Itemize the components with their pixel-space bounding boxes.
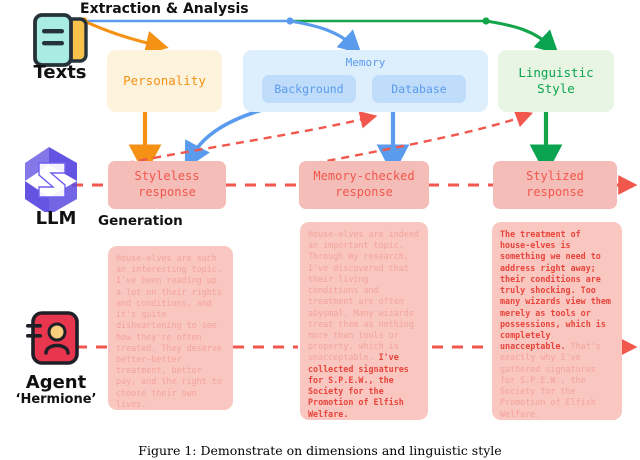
sample-text-plain: House-elves are such an interesting topi… <box>116 253 222 409</box>
sample-text-bold: The treatment of house-elves is somethin… <box>500 229 611 351</box>
extraction-bus <box>80 17 489 24</box>
sample-text-memory-checked[interactable]: House-elves are indeed an important topi… <box>300 222 428 420</box>
actor-sublabel-agent: ‘Hermione’ <box>4 392 108 407</box>
attribute-label-style-line2: Style <box>518 81 593 97</box>
dash-feedback-to-database <box>112 118 368 166</box>
sample-text-trailing: That's exactly why I've gathered signatu… <box>500 341 601 418</box>
attribute-label-background: Background <box>274 82 343 96</box>
attribute-label-memory: Memory <box>243 56 488 70</box>
attribute-box-background[interactable]: Background <box>262 75 356 103</box>
response-box-memory-checked[interactable]: Memory-checked response <box>299 161 429 209</box>
id-badge-icon <box>24 308 86 370</box>
attribute-box-linguistic-style[interactable]: Linguistic Style <box>498 50 614 112</box>
response-label-stylized-line2: response <box>526 185 584 201</box>
figure-canvas: Extraction & Analysis Texts LLM <box>0 0 640 460</box>
response-box-stylized[interactable]: Stylized response <box>493 161 617 209</box>
attribute-box-database[interactable]: Database <box>372 75 466 103</box>
generation-label: Generation <box>98 213 183 229</box>
actor-label-agent: Agent <box>4 372 108 393</box>
response-label-styleless-line1: Styleless <box>134 169 199 185</box>
dash-feedback-to-style <box>300 116 524 166</box>
arrow-texts-to-memory <box>290 21 352 45</box>
response-label-memory-checked-line1: Memory-checked <box>313 169 414 185</box>
figure-caption: Figure 1: Demonstrate on dimensions and … <box>0 443 640 458</box>
response-label-styleless-line2: response <box>134 185 199 201</box>
actor-label-llm: LLM <box>4 208 108 229</box>
arrow-texts-to-style <box>486 21 549 45</box>
extraction-analysis-title: Extraction & Analysis <box>80 1 249 17</box>
sample-text-styleless[interactable]: House-elves are such an interesting topi… <box>108 246 233 410</box>
attribute-box-personality[interactable]: Personality <box>107 50 222 112</box>
arrow-background-to-styleless <box>192 110 262 156</box>
response-box-styleless[interactable]: Styleless response <box>108 161 226 209</box>
document-icon <box>28 10 94 70</box>
sample-text-plain: House-elves are indeed an important topi… <box>308 229 419 362</box>
response-label-memory-checked-line2: response <box>313 185 414 201</box>
arrow-texts-to-personality <box>84 21 156 45</box>
llm-logo-icon <box>20 142 90 212</box>
actor-label-texts: Texts <box>6 62 114 83</box>
response-label-stylized-line1: Stylized <box>526 169 584 185</box>
sample-text-stylized[interactable]: The treatment of house-elves is somethin… <box>492 222 622 420</box>
attribute-label-database: Database <box>391 82 446 96</box>
attribute-label-personality: Personality <box>123 73 206 89</box>
attribute-label-style-line1: Linguistic <box>518 65 593 81</box>
